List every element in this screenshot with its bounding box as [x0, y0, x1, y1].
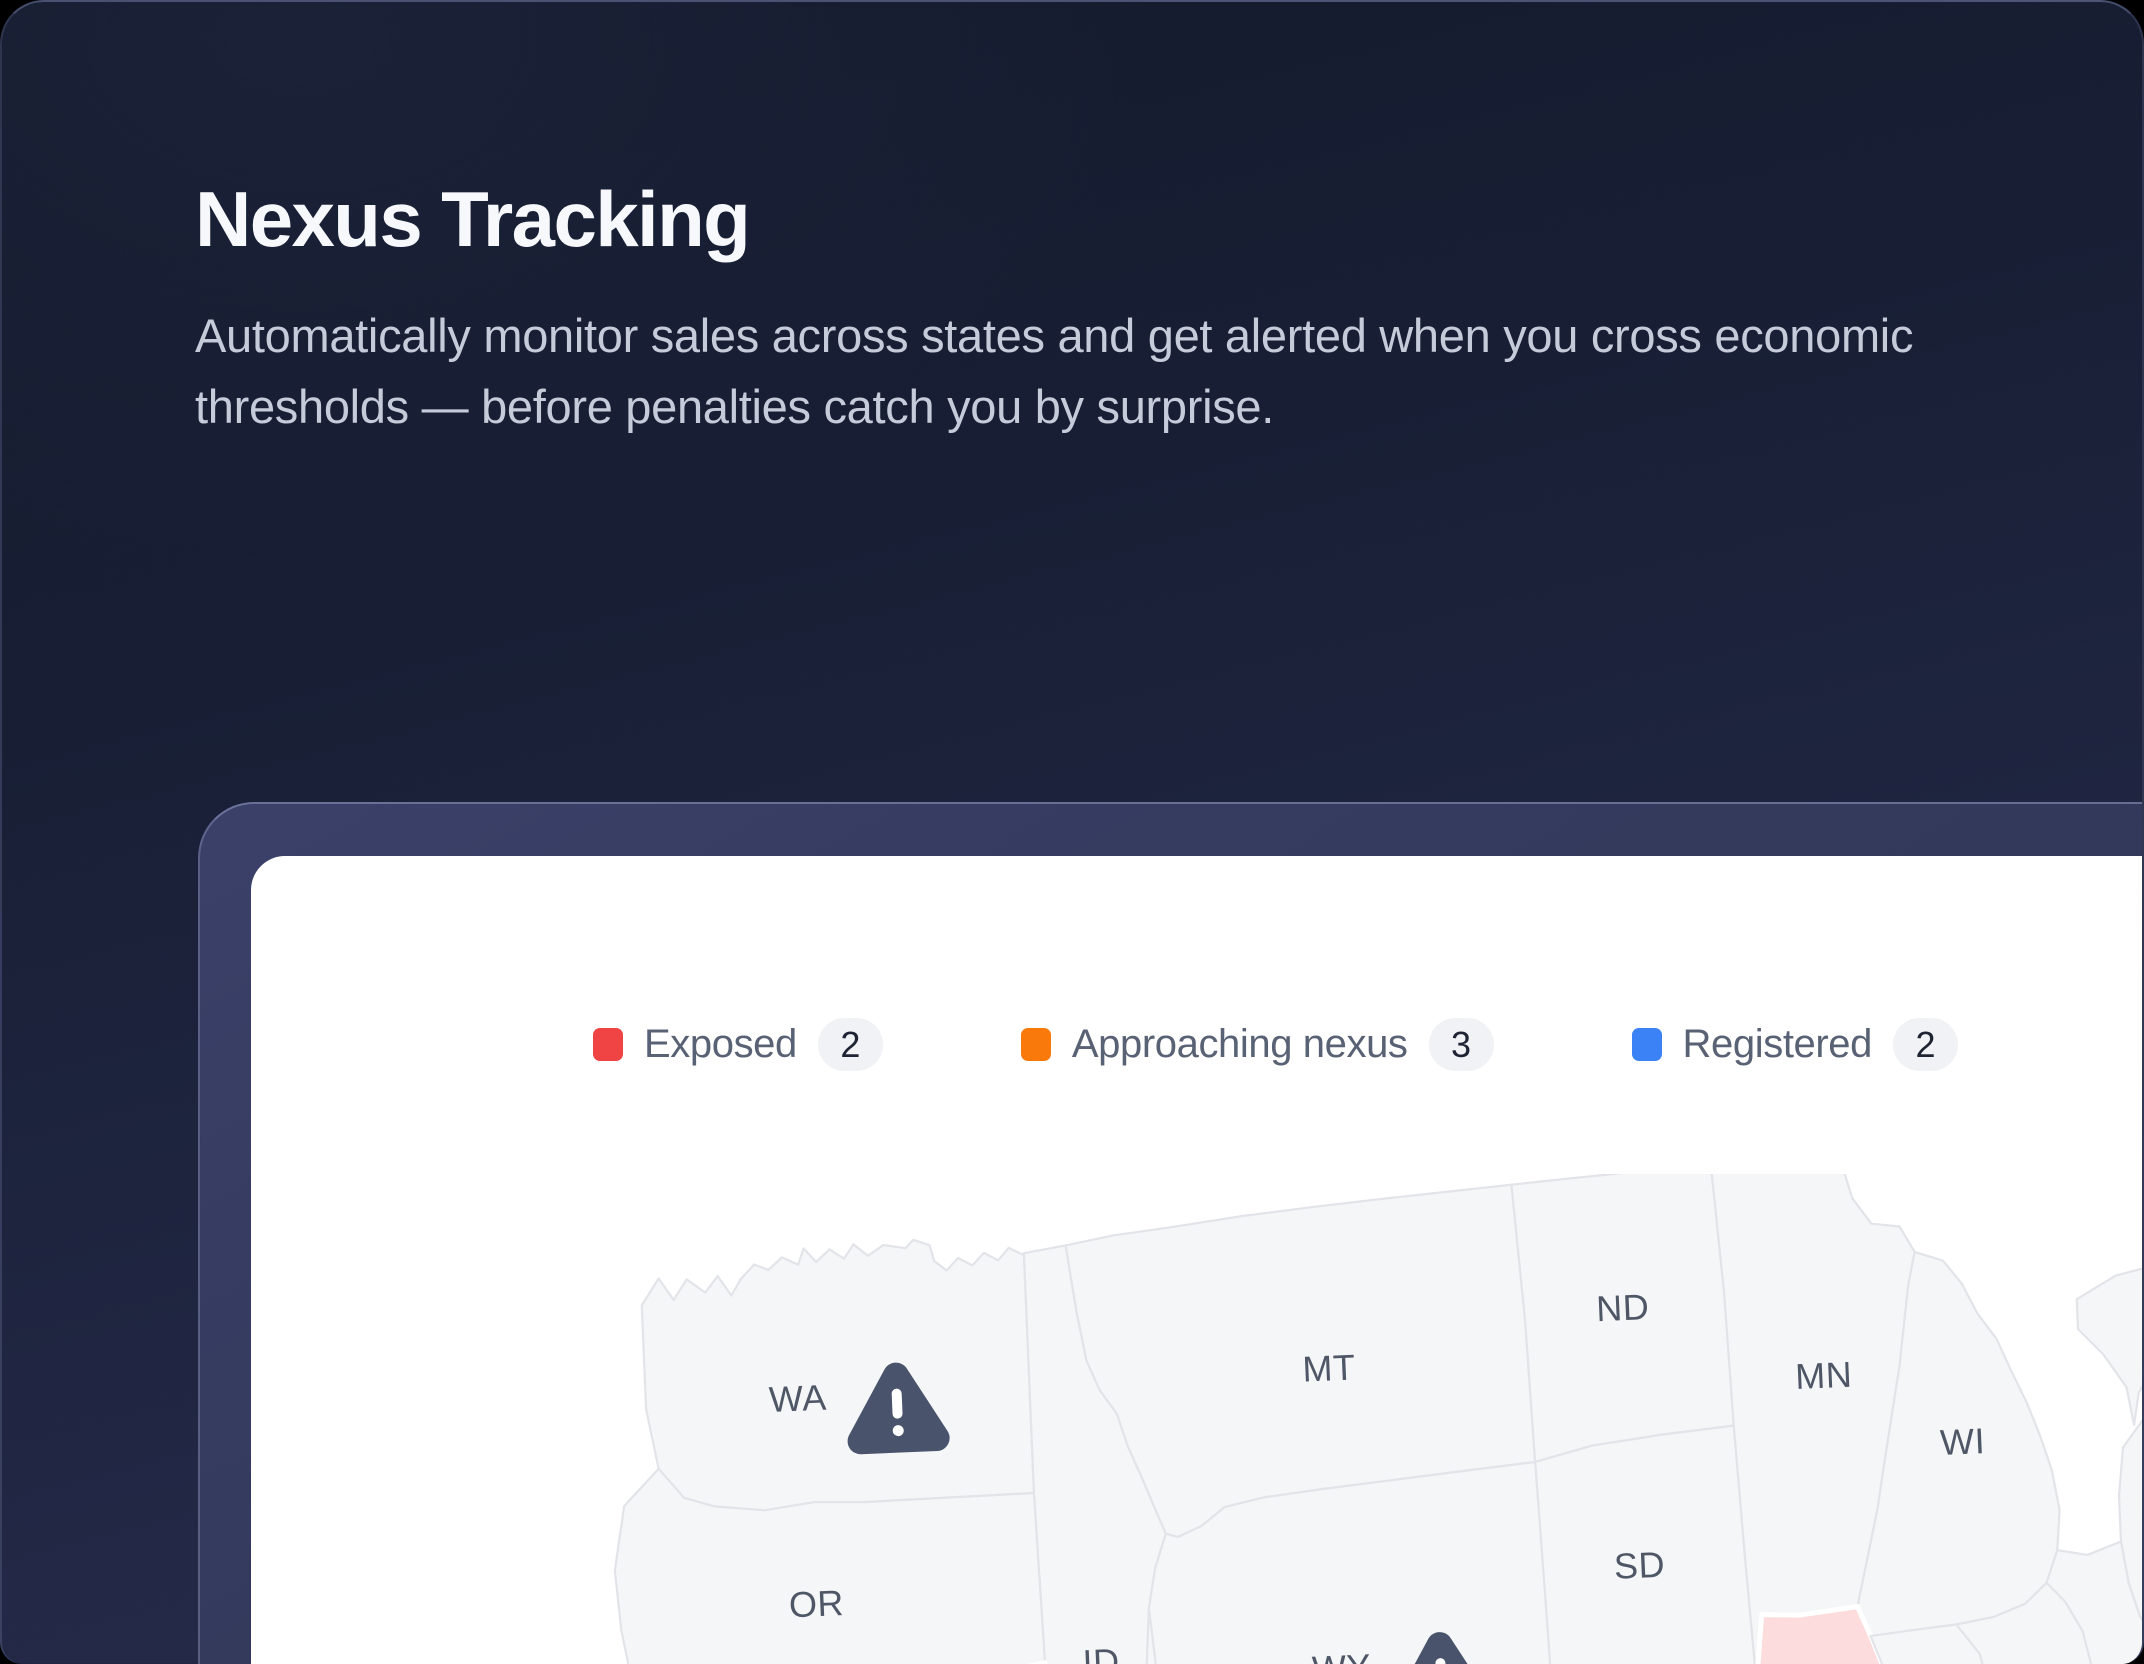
map-label-mt: MT — [1302, 1346, 1357, 1389]
nexus-status-legend: Exposed 2 Approaching nexus 3 Registered… — [251, 1018, 2144, 1071]
legend-item-exposed[interactable]: Exposed 2 — [593, 1018, 883, 1071]
app-screen: Exposed 2 Approaching nexus 3 Registered… — [251, 856, 2144, 1664]
map-state-wa[interactable] — [639, 1235, 1034, 1515]
hero-section: Nexus Tracking Automatically monitor sal… — [195, 180, 2015, 442]
map-label-nd: ND — [1595, 1286, 1650, 1329]
map-label-id: ID — [1082, 1641, 1121, 1664]
approaching-nexus-color-swatch — [1021, 1028, 1051, 1061]
map-label-mn: MN — [1794, 1354, 1853, 1397]
legend-label-exposed: Exposed — [644, 1022, 797, 1067]
device-frame: Exposed 2 Approaching nexus 3 Registered… — [198, 802, 2144, 1664]
map-label-wi: WI — [1939, 1420, 1986, 1463]
legend-count-approaching-nexus: 3 — [1429, 1018, 1494, 1071]
page-subtitle: Automatically monitor sales across state… — [195, 301, 1955, 442]
legend-count-exposed: 2 — [818, 1018, 883, 1071]
registered-color-swatch — [1632, 1028, 1662, 1061]
legend-count-registered: 2 — [1893, 1018, 1958, 1071]
legend-label-registered: Registered — [1683, 1022, 1872, 1067]
feature-panel: Nexus Tracking Automatically monitor sal… — [0, 0, 2144, 1664]
map-label-or: OR — [788, 1582, 845, 1625]
exposed-color-swatch — [593, 1028, 623, 1061]
map-label-wa: WA — [768, 1377, 827, 1420]
map-label-sd: SD — [1613, 1544, 1666, 1587]
legend-label-approaching-nexus: Approaching nexus — [1072, 1022, 1408, 1067]
map-label-wy: WY — [1311, 1646, 1372, 1664]
legend-item-registered[interactable]: Registered 2 — [1632, 1018, 1958, 1071]
us-nexus-map[interactable]: WA OR ID MT — [251, 1174, 2144, 1664]
page-title: Nexus Tracking — [195, 180, 2015, 258]
legend-item-approaching-nexus[interactable]: Approaching nexus 3 — [1021, 1018, 1494, 1071]
